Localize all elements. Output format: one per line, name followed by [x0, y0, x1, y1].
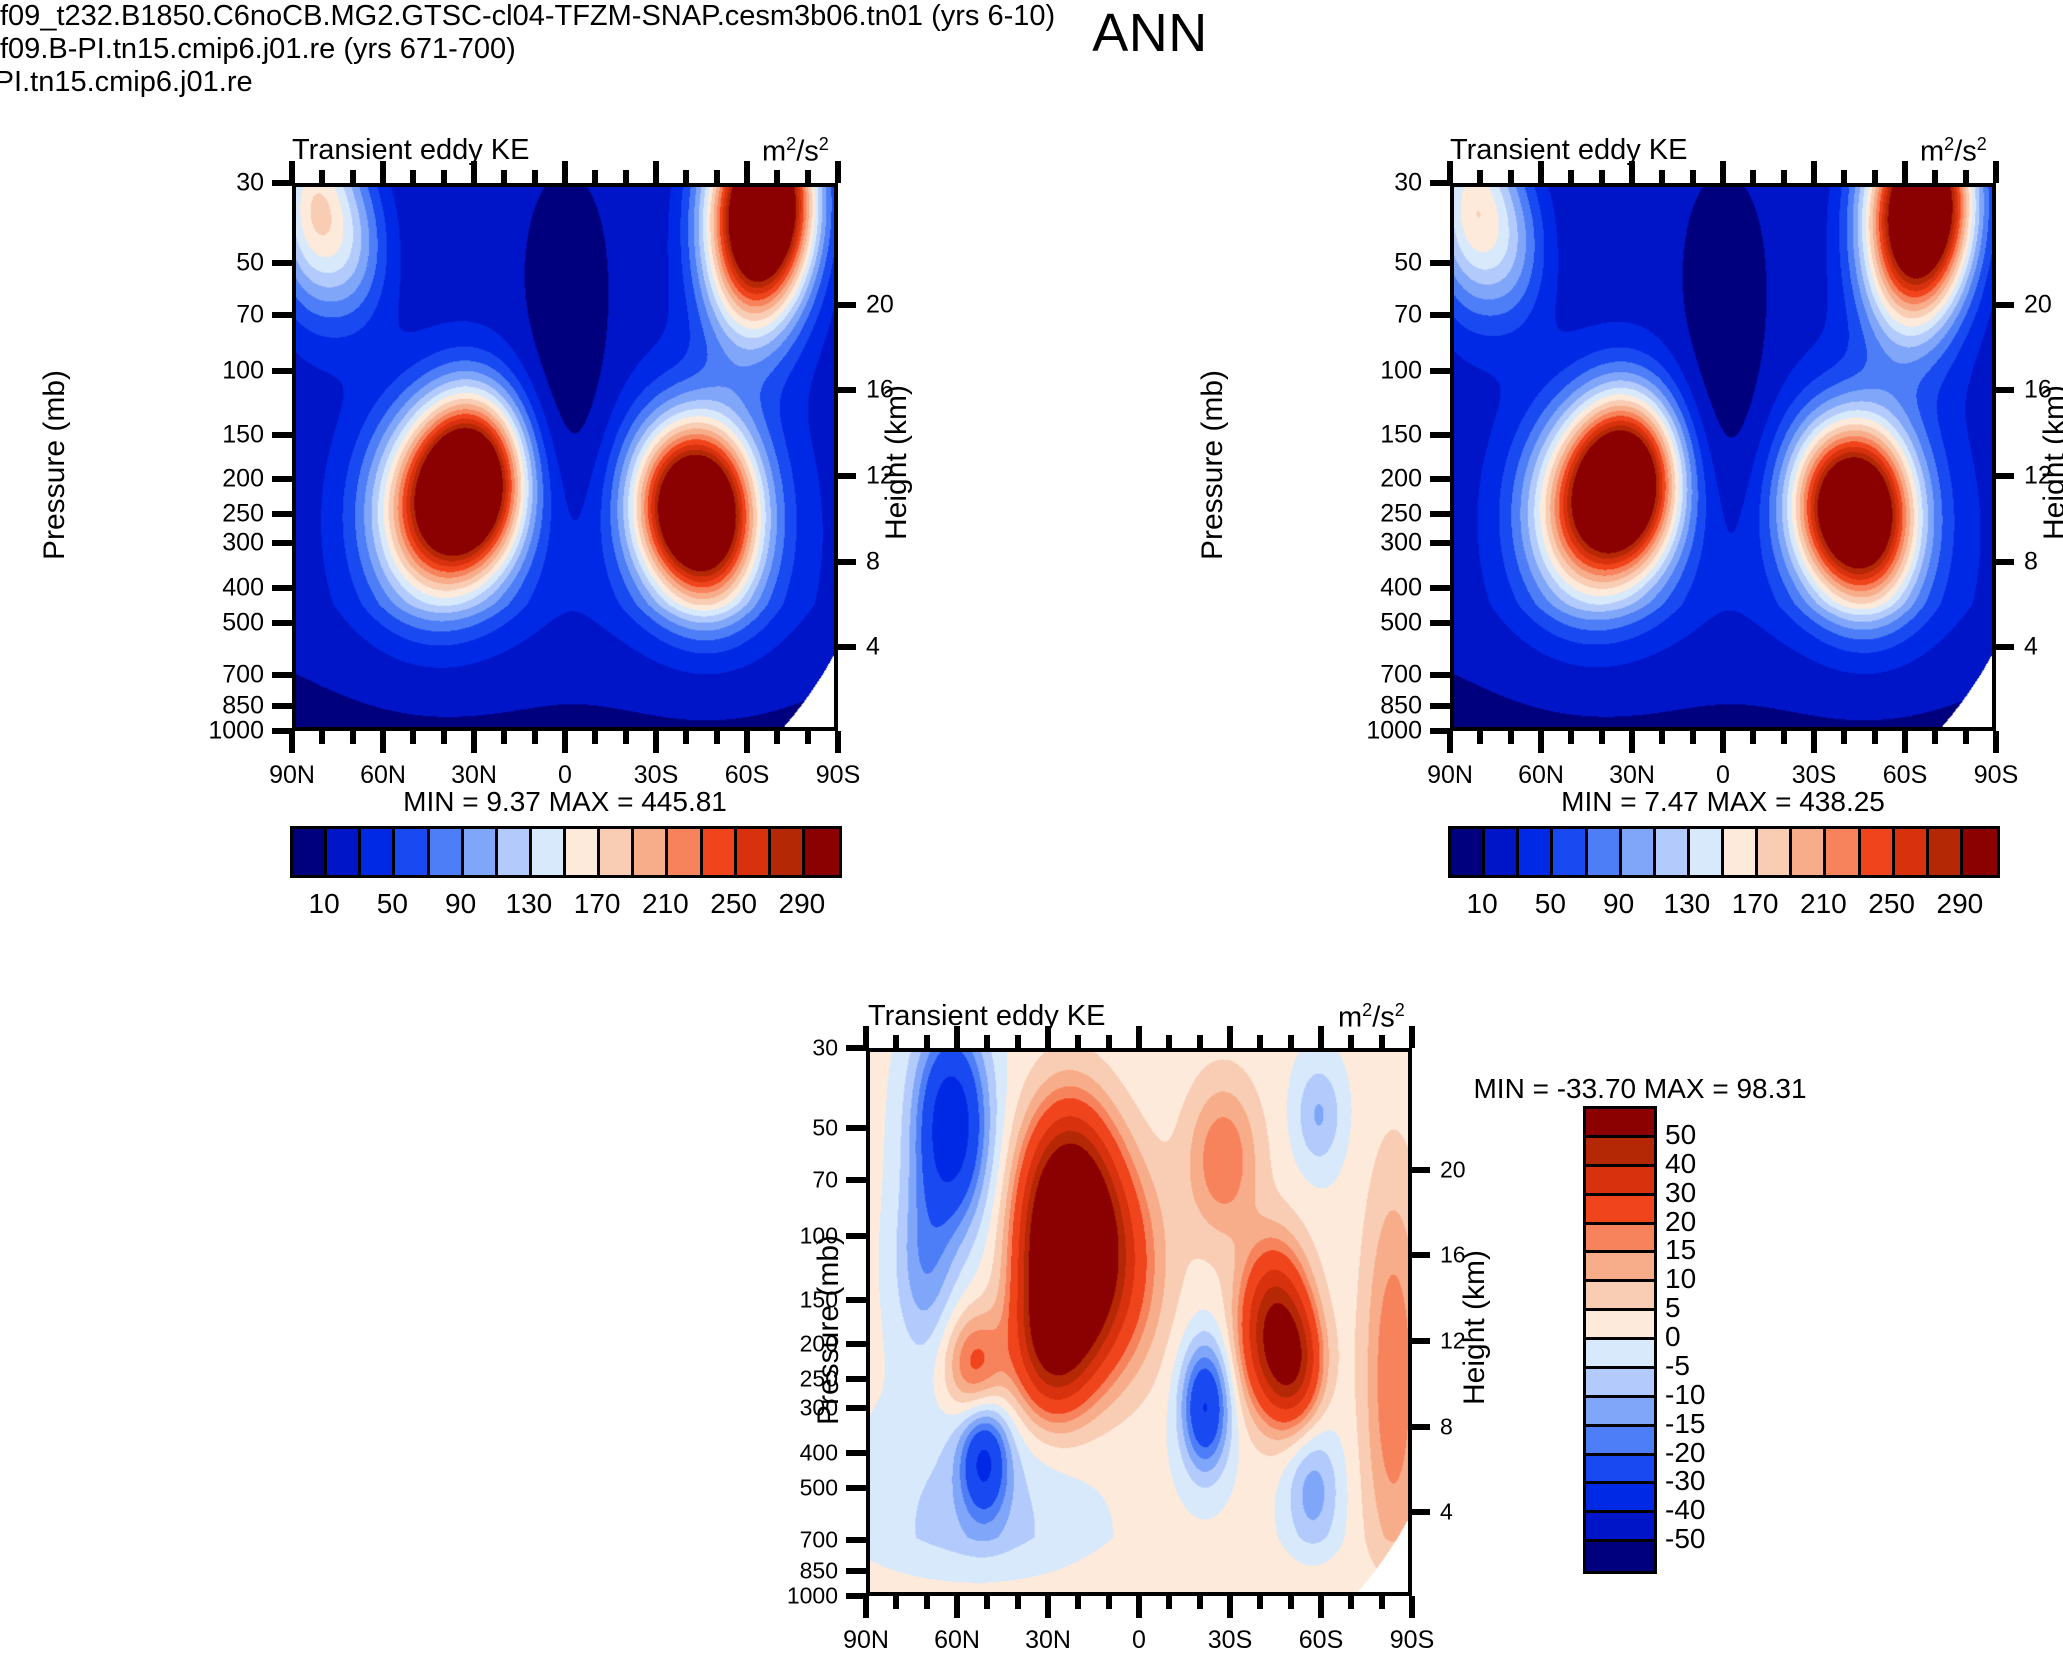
height-tick-label: 4 — [2024, 633, 2038, 662]
latitude-tick — [471, 731, 477, 753]
colorbar-cell — [805, 829, 839, 875]
pressure-tick — [1430, 312, 1450, 318]
colorbar-tick-label: -40 — [1665, 1494, 1705, 1526]
latitude-tick-top — [653, 161, 659, 183]
latitude-tick-top — [1841, 170, 1847, 183]
latitude-tick-top — [1318, 1026, 1324, 1048]
pressure-tick-label: 70 — [236, 301, 264, 330]
pressure-tick — [1430, 540, 1450, 546]
latitude-tick — [1348, 1596, 1354, 1609]
latitude-tick-top — [1227, 1026, 1233, 1048]
latitude-tick-top — [1963, 170, 1969, 183]
latitude-tick-top — [1781, 170, 1787, 183]
colorbar-tick-label: 20 — [1665, 1206, 1696, 1238]
latitude-tick-top — [1136, 1026, 1142, 1048]
latitude-tick-top — [1568, 170, 1574, 183]
latitude-tick-label: 60S — [1299, 1626, 1343, 1655]
colorbar-tick-label: -30 — [1665, 1465, 1705, 1497]
height-tick-label: 8 — [2024, 547, 2038, 576]
colorbar-tick-label: 15 — [1665, 1234, 1696, 1266]
latitude-tick-top — [1197, 1035, 1203, 1048]
latitude-tick — [1508, 731, 1514, 744]
colorbar-tick-label: 90 — [445, 888, 476, 920]
pressure-tick — [1430, 260, 1450, 266]
pressure-tick-label: 50 — [1394, 248, 1422, 277]
latitude-tick-top — [984, 1035, 990, 1048]
latitude-tick — [1227, 1596, 1233, 1618]
contour-field-difference — [870, 1052, 1408, 1592]
pressure-tick — [1430, 620, 1450, 626]
minmax-difference: MIN = -33.70 MAX = 98.31 — [1473, 1073, 1806, 1105]
pressure-tick-label: 150 — [1380, 420, 1422, 449]
colorbar-tick-label: 290 — [779, 888, 826, 920]
latitude-tick — [1599, 731, 1605, 744]
colorbar-cell — [532, 829, 566, 875]
height-tick-label: 12 — [866, 462, 894, 491]
pressure-tick-label: 500 — [800, 1474, 838, 1501]
height-tick — [838, 559, 856, 565]
latitude-tick — [319, 731, 325, 744]
height-tick — [1996, 473, 2014, 479]
contour-canvas — [296, 187, 834, 727]
colorbar-cell — [1586, 1167, 1654, 1196]
latitude-tick — [1993, 731, 1999, 753]
colorbar-tick-label: -50 — [1665, 1523, 1705, 1555]
latitude-tick-top — [714, 170, 720, 183]
latitude-tick — [623, 731, 629, 744]
colorbar-cell — [1553, 829, 1587, 875]
latitude-tick — [1379, 1596, 1385, 1609]
latitude-tick — [805, 731, 811, 744]
pressure-tick — [272, 703, 292, 709]
colorbar-cell — [1519, 829, 1553, 875]
latitude-tick-label: 0 — [1132, 1626, 1146, 1655]
pressure-tick-label: 100 — [1380, 357, 1422, 386]
colorbar-tick-label: 170 — [574, 888, 621, 920]
pressure-tick — [272, 540, 292, 546]
latitude-tick-top — [1750, 170, 1756, 183]
colorbar-cell — [600, 829, 634, 875]
pressure-tick — [846, 1341, 866, 1347]
colorbar-cell — [1586, 1369, 1654, 1398]
colorbar-tick-label: -15 — [1665, 1408, 1705, 1440]
colorbar-tick-label: 50 — [1535, 888, 1566, 920]
variable-label-control: Transient eddy KE — [1450, 134, 1688, 167]
contour-plot-test[interactable] — [292, 183, 838, 731]
latitude-tick — [1811, 731, 1817, 753]
colorbar-tick-label: 130 — [1664, 888, 1711, 920]
colorbar-cell — [668, 829, 702, 875]
latitude-tick — [1963, 731, 1969, 744]
pressure-tick-label: 300 — [800, 1394, 838, 1421]
latitude-tick-top — [1348, 1035, 1354, 1048]
colorbar-cell — [1586, 1542, 1654, 1571]
latitude-tick-top — [805, 170, 811, 183]
colorbar-tick-label: 50 — [1665, 1119, 1696, 1151]
latitude-tick — [863, 1596, 869, 1618]
latitude-tick-top — [350, 170, 356, 183]
colorbar-cell — [1758, 829, 1792, 875]
contour-plot-difference[interactable] — [866, 1048, 1412, 1596]
height-tick-label: 4 — [866, 633, 880, 662]
latitude-tick-top — [1720, 161, 1726, 183]
pressure-tick-label: 250 — [222, 500, 264, 529]
latitude-tick — [1690, 731, 1696, 744]
latitude-tick — [835, 731, 841, 753]
latitude-tick — [1750, 731, 1756, 744]
pressure-tick — [1430, 476, 1450, 482]
colorbar-cell — [1586, 1427, 1654, 1456]
colorbar-cell — [1586, 1311, 1654, 1340]
colorbar-cell — [771, 829, 805, 875]
height-tick-label: 16 — [2024, 376, 2052, 405]
colorbar-cell — [464, 829, 498, 875]
pressure-tick-label: 70 — [812, 1167, 838, 1194]
pressure-tick-label: 200 — [1380, 465, 1422, 494]
latitude-tick-top — [1409, 1026, 1415, 1048]
latitude-tick — [714, 731, 720, 744]
pressure-tick-label: 30 — [1394, 169, 1422, 198]
latitude-tick — [289, 731, 295, 753]
pressure-tick-label: 1000 — [1366, 717, 1422, 746]
pressure-tick-label: 30 — [236, 169, 264, 198]
colorbar-tick-label: 210 — [642, 888, 689, 920]
latitude-tick-label: 90S — [816, 761, 860, 790]
latitude-tick-top — [532, 170, 538, 183]
pressure-tick-label: 150 — [800, 1286, 838, 1313]
latitude-tick — [1447, 731, 1453, 753]
latitude-tick-top — [410, 170, 416, 183]
latitude-tick — [1902, 731, 1908, 753]
colorbar-cell — [703, 829, 737, 875]
colorbar-tick-label: 40 — [1665, 1148, 1696, 1180]
latitude-tick-top — [1932, 170, 1938, 183]
latitude-tick-top — [1993, 161, 1999, 183]
pressure-tick-label: 100 — [222, 357, 264, 386]
colorbar-cell — [1963, 829, 1997, 875]
colorbar-cell — [293, 829, 327, 875]
colorbar-tick-label: -10 — [1665, 1379, 1705, 1411]
colorbar-cell — [498, 829, 532, 875]
pressure-tick — [1430, 585, 1450, 591]
latitude-tick-top — [1477, 170, 1483, 183]
pressure-tick-label: 300 — [222, 528, 264, 557]
pressure-tick-label: 400 — [800, 1439, 838, 1466]
minmax-control: MIN = 7.47 MAX = 438.25 — [1561, 786, 1885, 818]
colorbar-cell — [1724, 829, 1758, 875]
pressure-tick — [272, 585, 292, 591]
latitude-tick-top — [683, 170, 689, 183]
height-tick — [1412, 1424, 1430, 1430]
pressure-tick-label: 50 — [812, 1114, 838, 1141]
latitude-tick — [1136, 1596, 1142, 1618]
pressure-tick — [272, 672, 292, 678]
height-tick-label: 8 — [866, 547, 880, 576]
colorbar-cell — [361, 829, 395, 875]
colorbar-cell — [1690, 829, 1724, 875]
latitude-tick — [1015, 1596, 1021, 1609]
pressure-tick-label: 100 — [800, 1223, 838, 1250]
y-axis-label-left-test: Pressure (mb) — [38, 370, 72, 560]
latitude-tick — [350, 731, 356, 744]
pressure-tick — [846, 1297, 866, 1303]
latitude-tick — [893, 1596, 899, 1609]
height-tick — [838, 473, 856, 479]
latitude-tick — [1477, 731, 1483, 744]
latitude-tick-label: 60N — [934, 1626, 980, 1655]
contour-plot-control[interactable] — [1450, 183, 1996, 731]
latitude-tick-top — [1106, 1035, 1112, 1048]
latitude-tick — [1841, 731, 1847, 744]
colorbar-tick-label: -20 — [1665, 1437, 1705, 1469]
latitude-tick-label: 60S — [725, 761, 769, 790]
latitude-tick-top — [774, 170, 780, 183]
latitude-tick-top — [1045, 1026, 1051, 1048]
pressure-tick — [846, 1177, 866, 1183]
latitude-tick-top — [835, 161, 841, 183]
latitude-tick-top — [380, 161, 386, 183]
latitude-tick — [441, 731, 447, 744]
latitude-tick-top — [893, 1035, 899, 1048]
height-tick — [1996, 644, 2014, 650]
height-tick — [1412, 1167, 1430, 1173]
colorbar-cell — [1826, 829, 1860, 875]
colorbar-cell — [1586, 1282, 1654, 1311]
pressure-tick-label: 500 — [222, 608, 264, 637]
colorbar-cell — [737, 829, 771, 875]
latitude-tick-top — [562, 161, 568, 183]
latitude-tick — [1409, 1596, 1415, 1618]
latitude-tick — [744, 731, 750, 753]
pressure-tick-label: 150 — [222, 420, 264, 449]
height-tick — [838, 302, 856, 308]
latitude-tick — [1872, 731, 1878, 744]
colorbar-tick-label: 170 — [1732, 888, 1779, 920]
contour-canvas — [1454, 187, 1992, 727]
colorbar-cell — [1622, 829, 1656, 875]
latitude-tick — [1538, 731, 1544, 753]
colorbar-cell — [1586, 1513, 1654, 1542]
colorbar-tick-label: 90 — [1603, 888, 1634, 920]
latitude-tick — [1932, 731, 1938, 744]
pressure-tick — [846, 1376, 866, 1382]
latitude-tick-top — [1166, 1035, 1172, 1048]
colorbar-control[interactable] — [1448, 826, 2000, 878]
pressure-tick-label: 30 — [812, 1035, 838, 1062]
colorbar-tick-label: 0 — [1665, 1321, 1681, 1353]
latitude-tick — [1288, 1596, 1294, 1609]
height-tick — [1412, 1252, 1430, 1258]
latitude-tick-top — [1075, 1035, 1081, 1048]
height-tick — [1412, 1338, 1430, 1344]
colorbar-cell — [430, 829, 464, 875]
latitude-tick-top — [1508, 170, 1514, 183]
figure-canvas: ANN f09_t232.B1850.C6noCB.MG2.GTSC-cl04-… — [0, 0, 2063, 1616]
latitude-tick-top — [1015, 1035, 1021, 1048]
pressure-tick — [1430, 703, 1450, 709]
colorbar-cell — [1588, 829, 1622, 875]
height-tick — [1996, 302, 2014, 308]
latitude-tick — [501, 731, 507, 744]
colorbar-cell — [395, 829, 429, 875]
latitude-tick — [954, 1596, 960, 1618]
pressure-tick-label: 200 — [800, 1331, 838, 1358]
panel-title-control: f09.B-PI.tn15.cmip6.j01.re (yrs 671-700) — [0, 33, 2063, 66]
height-tick-label: 8 — [1440, 1413, 1453, 1440]
colorbar-cell — [1586, 1253, 1654, 1282]
pressure-tick — [1430, 672, 1450, 678]
pressure-tick — [846, 1537, 866, 1543]
latitude-tick-label: 90N — [843, 1626, 889, 1655]
colorbar-tick-label: 130 — [506, 888, 553, 920]
variable-label-test: Transient eddy KE — [292, 134, 530, 167]
latitude-tick-top — [1629, 161, 1635, 183]
latitude-tick — [1166, 1596, 1172, 1609]
pressure-tick-label: 1000 — [787, 1583, 838, 1610]
colorbar-tick-label: 210 — [1800, 888, 1847, 920]
pressure-tick-label: 250 — [1380, 500, 1422, 529]
latitude-tick-top — [1257, 1035, 1263, 1048]
colorbar-cell — [1656, 829, 1690, 875]
latitude-tick — [410, 731, 416, 744]
pressure-tick — [846, 1485, 866, 1491]
pressure-tick — [1430, 511, 1450, 517]
height-tick-label: 16 — [866, 376, 894, 405]
latitude-tick-label: 90N — [269, 761, 315, 790]
colorbar-tick-label: 10 — [1665, 1263, 1696, 1295]
colorbar-cell — [566, 829, 600, 875]
height-tick — [1412, 1509, 1430, 1515]
latitude-tick — [1720, 731, 1726, 753]
latitude-tick — [1781, 731, 1787, 744]
pressure-tick-label: 700 — [1380, 661, 1422, 690]
contour-field-test — [296, 187, 834, 727]
latitude-tick — [1075, 1596, 1081, 1609]
latitude-tick-top — [1902, 161, 1908, 183]
pressure-tick-label: 300 — [1380, 528, 1422, 557]
pressure-tick — [846, 1450, 866, 1456]
height-tick-label: 4 — [1440, 1499, 1453, 1526]
pressure-tick-label: 1000 — [208, 717, 264, 746]
colorbar-tick-label: -5 — [1665, 1350, 1690, 1382]
latitude-tick-top — [1690, 170, 1696, 183]
panel-title-difference: f09_t232.B1850.C6noCB.MG2.GTSC-cl04-TFZM… — [0, 66, 1032, 99]
pressure-tick — [1430, 432, 1450, 438]
colorbar-tick-label: 5 — [1665, 1292, 1681, 1324]
colorbar-cell — [1485, 829, 1519, 875]
latitude-tick — [924, 1596, 930, 1609]
colorbar-tick-label: 10 — [1467, 888, 1498, 920]
height-tick — [1996, 559, 2014, 565]
colorbar-cell — [1451, 829, 1485, 875]
latitude-tick-top — [441, 170, 447, 183]
minmax-test: MIN = 9.37 MAX = 445.81 — [403, 786, 727, 818]
latitude-tick-top — [592, 170, 598, 183]
latitude-tick — [984, 1596, 990, 1609]
height-tick — [1996, 387, 2014, 393]
pressure-tick-label: 400 — [1380, 573, 1422, 602]
latitude-tick — [683, 731, 689, 744]
latitude-tick-top — [1379, 1035, 1385, 1048]
page-title: ANN — [1092, 2, 1208, 64]
colorbar-tick-label: 290 — [1937, 888, 1984, 920]
latitude-tick-top — [1538, 161, 1544, 183]
pressure-tick — [1430, 368, 1450, 374]
height-tick-label: 20 — [1440, 1156, 1466, 1183]
colorbar-difference[interactable] — [1583, 1106, 1657, 1574]
latitude-tick-label: 60N — [1518, 761, 1564, 790]
latitude-tick-top — [1288, 1035, 1294, 1048]
latitude-tick — [532, 731, 538, 744]
colorbar-cell — [1586, 1340, 1654, 1369]
pressure-tick-label: 700 — [222, 661, 264, 690]
latitude-tick-label: 90N — [1427, 761, 1473, 790]
pressure-tick — [272, 476, 292, 482]
latitude-tick — [1257, 1596, 1263, 1609]
latitude-tick-top — [319, 170, 325, 183]
height-tick-label: 20 — [2024, 290, 2052, 319]
height-tick-label: 20 — [866, 290, 894, 319]
latitude-tick-top — [471, 161, 477, 183]
latitude-tick — [1106, 1596, 1112, 1609]
latitude-tick-top — [954, 1026, 960, 1048]
contour-canvas — [870, 1052, 1408, 1592]
height-tick-label: 12 — [2024, 462, 2052, 491]
latitude-tick-top — [1659, 170, 1665, 183]
latitude-tick — [1318, 1596, 1324, 1618]
pressure-tick — [272, 312, 292, 318]
pressure-tick — [846, 1125, 866, 1131]
variable-label-difference: Transient eddy KE — [868, 1000, 1106, 1033]
pressure-tick — [846, 1405, 866, 1411]
colorbar-cell — [1861, 829, 1895, 875]
latitude-tick — [592, 731, 598, 744]
pressure-tick — [272, 260, 292, 266]
latitude-tick-label: 60N — [360, 761, 406, 790]
pressure-tick-label: 500 — [1380, 608, 1422, 637]
pressure-tick — [272, 368, 292, 374]
units-label-test: m2/s2 — [762, 134, 829, 169]
latitude-tick — [1197, 1596, 1203, 1609]
latitude-tick-top — [1599, 170, 1605, 183]
colorbar-cell — [634, 829, 668, 875]
pressure-tick — [846, 1568, 866, 1574]
latitude-tick-top — [289, 161, 295, 183]
colorbar-tick-label: 50 — [377, 888, 408, 920]
latitude-tick-top — [924, 1035, 930, 1048]
colorbar-test[interactable] — [290, 826, 842, 878]
height-tick-label: 12 — [1440, 1328, 1466, 1355]
latitude-tick-label: 30N — [1025, 1626, 1071, 1655]
colorbar-tick-label: 250 — [710, 888, 757, 920]
colorbar-tick-label: 30 — [1665, 1177, 1696, 1209]
latitude-tick-top — [501, 170, 507, 183]
latitude-tick-top — [1447, 161, 1453, 183]
pressure-tick — [272, 511, 292, 517]
latitude-tick-top — [863, 1026, 869, 1048]
colorbar-cell — [1586, 1138, 1654, 1167]
colorbar-cell — [1792, 829, 1826, 875]
pressure-tick-label: 50 — [236, 248, 264, 277]
latitude-tick-top — [1811, 161, 1817, 183]
pressure-tick-label: 250 — [800, 1366, 838, 1393]
units-label-control: m2/s2 — [1920, 134, 1987, 169]
height-tick — [838, 387, 856, 393]
contour-field-control — [1454, 187, 1992, 727]
latitude-tick — [1629, 731, 1635, 753]
pressure-tick — [272, 432, 292, 438]
latitude-tick — [562, 731, 568, 753]
